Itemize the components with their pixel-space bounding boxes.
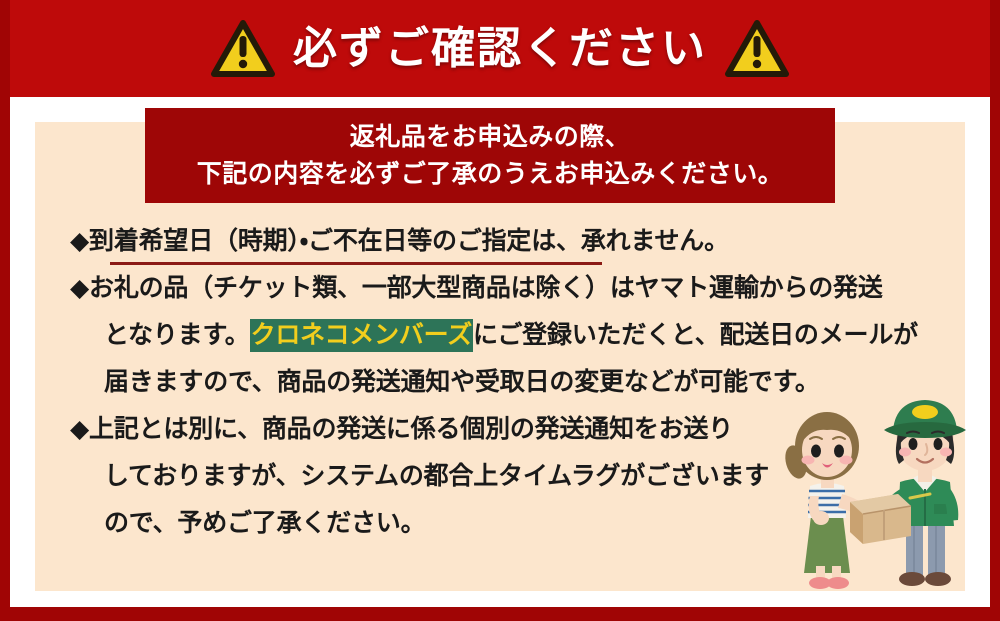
warning-triangle-icon bbox=[211, 20, 275, 78]
title-box-line-1: 返礼品をお申込みの際、 bbox=[350, 119, 631, 155]
delivery-handover-illustration bbox=[780, 390, 980, 591]
notice-line-2-text: ◆お礼の品（チケット類、一部大型商品は除く）はヤマト運輸からの発送 bbox=[70, 274, 883, 302]
notice-line-3: となります。クロネコメンバーズにご登録いただくと、配送日のメールが bbox=[70, 312, 950, 359]
header-band: 必ずご確認ください bbox=[0, 0, 1000, 97]
notice-line-2: ◆お礼の品（チケット類、一部大型商品は除く）はヤマト運輸からの発送 bbox=[70, 265, 950, 312]
warning-triangle-icon bbox=[725, 20, 789, 78]
cardboard-box bbox=[850, 494, 911, 544]
notice-line-1: ◆到着希望日（時期）・ご不在日等のご指定は、承れません。 bbox=[70, 218, 950, 265]
kuroneko-members-highlight: クロネコメンバーズ bbox=[250, 319, 473, 352]
notice-line-3-pre: となります。 bbox=[104, 321, 250, 349]
notice-line-5-text: ◆上記とは別に、商品の発送に係る個別の発送通知をお送り bbox=[70, 415, 733, 443]
notice-line-6-text: しておりますが、システムの都合上タイムラグがございます bbox=[104, 462, 769, 490]
notice-line-7-text: ので、予めご了承ください。 bbox=[104, 509, 425, 537]
notice-line-3-post: にご登録いただくと、配送日のメールが bbox=[473, 321, 918, 349]
notice-line-1-text: ◆到着希望日（時期）・ご不在日等のご指定は、承れません。 bbox=[70, 227, 729, 255]
notice-banner-page: 必ずご確認ください 返礼品をお申込みの際、 下記の内容を必ずご了承のうえお申込み… bbox=[0, 0, 1000, 621]
delivery-man-figure bbox=[875, 400, 966, 586]
page-title: 必ずご確認ください bbox=[293, 27, 707, 71]
title-box: 返礼品をお申込みの際、 下記の内容を必ずご了承のうえお申込みください。 bbox=[145, 108, 835, 203]
title-box-line-2: 下記の内容を必ずご了承のうえお申込みください。 bbox=[197, 156, 784, 192]
notice-line-4-text: 届きますので、商品の発送通知や受取日の変更などが可能です。 bbox=[104, 368, 820, 396]
